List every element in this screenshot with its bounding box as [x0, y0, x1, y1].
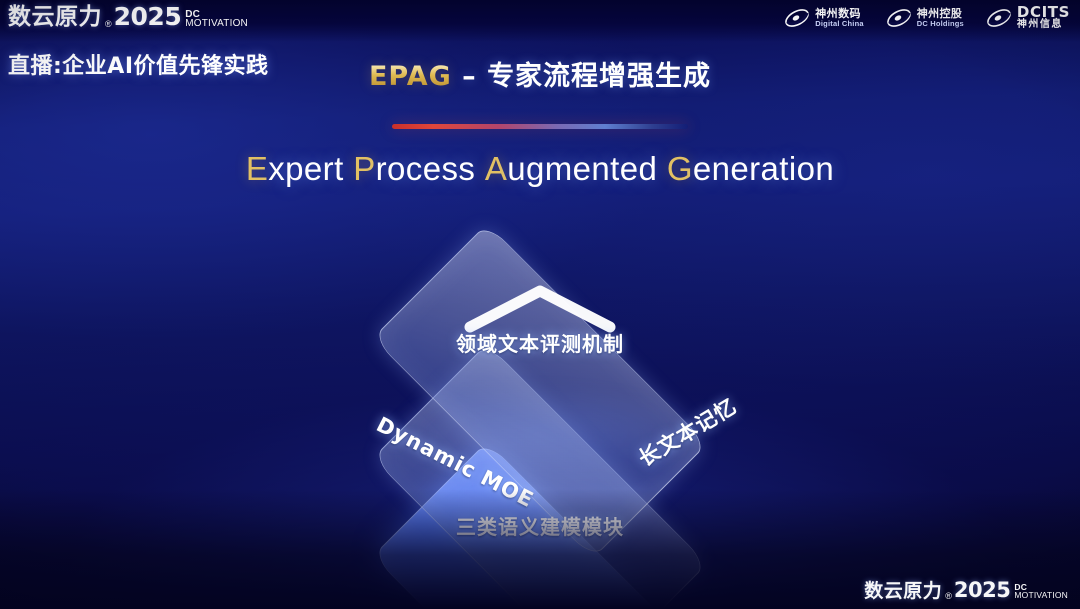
logo-cn-dc-holdings: 神州控股: [917, 8, 964, 19]
brand-logo-bottomright: 数云原力 ® 2025 DC MOTIVATION: [864, 580, 1068, 601]
logo-digital-china: 神州数码 Digital China: [784, 7, 863, 29]
footer-brand-motivation-label: MOTIVATION: [1014, 592, 1068, 600]
logo-dcits: DCITS 神州信息: [986, 5, 1070, 30]
brand-name-cn: 数云原力: [8, 6, 102, 29]
subtitle-rest-expert: xpert: [268, 150, 343, 187]
footer-brand-year: 2025: [954, 580, 1010, 601]
partner-logo-row: 神州数码 Digital China 神州控股 DC Holdings: [784, 5, 1070, 30]
logo-text-digital-china: 神州数码 Digital China: [815, 8, 863, 27]
swoosh-icon: [784, 7, 810, 29]
title-divider: [392, 124, 688, 129]
logo-cn-digital-china: 神州数码: [815, 8, 863, 19]
chevron-up-icon: [460, 281, 620, 335]
logo-dc-holdings: 神州控股 DC Holdings: [886, 7, 964, 29]
brand-logo-topleft: 数云原力 ® 2025 DC MOTIVATION: [8, 4, 248, 29]
title-chinese: 专家流程增强生成: [487, 61, 711, 92]
subtitle-rest-generation: eneration: [693, 150, 834, 187]
brand-registered-mark: ®: [105, 19, 112, 29]
subtitle-rest-augmented: ugmented: [507, 150, 657, 187]
subtitle-cap-g: G: [667, 150, 693, 187]
logo-en-digital-china: Digital China: [815, 20, 863, 28]
page-subtitle: Expert Process Augmented Generation: [0, 150, 1080, 188]
title-acronym: EPAG: [369, 61, 452, 92]
subtitle-cap-p: P: [353, 150, 375, 187]
logo-cn-dcits: 神州信息: [1017, 20, 1070, 30]
brand-dc-motivation: DC MOTIVATION: [185, 10, 248, 28]
page-title: EPAG – 专家流程增强生成: [0, 54, 1080, 93]
subtitle-rest-process: rocess: [376, 150, 476, 187]
diagram-label-top: 领域文本评测机制: [456, 328, 624, 357]
logo-en-dcits: DCITS: [1017, 5, 1070, 20]
swoosh-icon: [886, 7, 912, 29]
footer-brand-registered-mark: ®: [945, 591, 952, 601]
subtitle-cap-e: E: [246, 150, 268, 187]
logo-en-dc-holdings: DC Holdings: [917, 20, 964, 28]
slide-background: 数云原力 ® 2025 DC MOTIVATION 直播:企业AI价值先锋实践 …: [0, 0, 1080, 609]
logo-text-dcits: DCITS 神州信息: [1017, 5, 1070, 30]
logo-text-dc-holdings: 神州控股 DC Holdings: [917, 8, 964, 27]
swoosh-icon: [986, 7, 1012, 29]
brand-year: 2025: [114, 4, 182, 29]
footer-brand-dc-motivation: DC MOTIVATION: [1014, 584, 1068, 600]
brand-motivation-label: MOTIVATION: [185, 19, 248, 28]
footer-brand-name-cn: 数云原力: [864, 582, 942, 601]
title-dash: –: [452, 61, 487, 92]
subtitle-cap-a: A: [485, 150, 507, 187]
